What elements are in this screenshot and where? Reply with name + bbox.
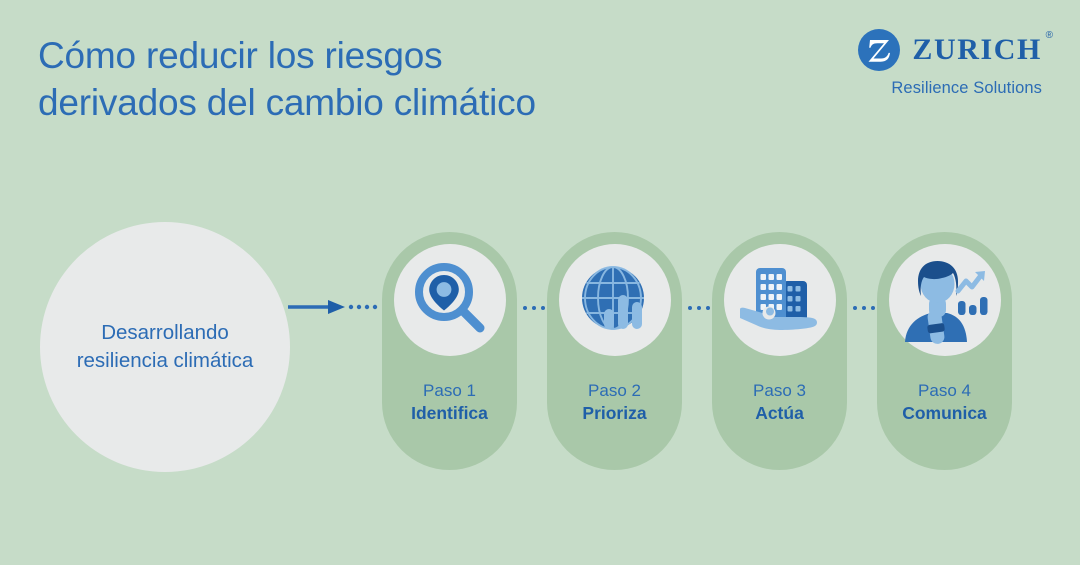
page-title: Cómo reducir los riesgos derivados del c… — [38, 32, 678, 126]
globe-bar-chart-icon — [559, 244, 671, 356]
step-number: Paso 4 — [877, 380, 1012, 402]
step-capsule-prioriza[interactable]: Paso 2 Prioriza — [547, 232, 682, 470]
dot — [532, 306, 536, 310]
step-capsule-identifica[interactable]: Paso 1 Identifica — [382, 232, 517, 470]
zurich-logo: ZURICH ® Resilience Solutions — [812, 28, 1042, 98]
intro-label: Desarrollando resiliencia climática — [77, 319, 254, 375]
person-microphone-growth-chart-icon — [889, 244, 1001, 356]
dot — [688, 306, 692, 310]
step-labels: Paso 3 Actúa — [712, 380, 847, 425]
zurich-wordmark-text: ZURICH — [912, 33, 1042, 66]
dot — [862, 306, 866, 310]
three-dots-icon — [684, 304, 714, 312]
dot — [541, 306, 545, 310]
dot — [871, 306, 875, 310]
magnifier-location-pin-icon — [394, 244, 506, 356]
intro-circle: Desarrollando resiliencia climática — [40, 222, 290, 472]
step-capsule-comunica[interactable]: Paso 4 Comunica — [877, 232, 1012, 470]
logo-row: ZURICH ® — [812, 28, 1042, 72]
step-labels: Paso 1 Identifica — [382, 380, 517, 425]
dot — [706, 306, 710, 310]
steps-container: Paso 1 Identifica — [382, 232, 1042, 470]
dot — [523, 306, 527, 310]
zurich-z-mark-icon — [857, 28, 901, 72]
step-capsule-actua[interactable]: Paso 3 Actúa — [712, 232, 847, 470]
dot — [697, 306, 701, 310]
three-dots-icon — [849, 304, 879, 312]
step-name: Actúa — [712, 402, 847, 425]
step-number: Paso 3 — [712, 380, 847, 402]
step-labels: Paso 4 Comunica — [877, 380, 1012, 425]
step-labels: Paso 2 Prioriza — [547, 380, 682, 425]
step-name: Prioriza — [547, 402, 682, 425]
step-name: Identifica — [382, 402, 517, 425]
arrow-right-dotted-icon — [288, 298, 380, 316]
dot — [853, 306, 857, 310]
step-number: Paso 2 — [547, 380, 682, 402]
zurich-wordmark: ZURICH ® — [912, 35, 1042, 65]
hand-holding-buildings-icon — [724, 244, 836, 356]
step-number: Paso 1 — [382, 380, 517, 402]
logo-tagline: Resilience Solutions — [812, 79, 1042, 98]
three-dots-icon — [519, 304, 549, 312]
registered-mark: ® — [1046, 31, 1053, 41]
step-name: Comunica — [877, 402, 1012, 425]
infographic-canvas: Cómo reducir los riesgos derivados del c… — [0, 0, 1080, 565]
